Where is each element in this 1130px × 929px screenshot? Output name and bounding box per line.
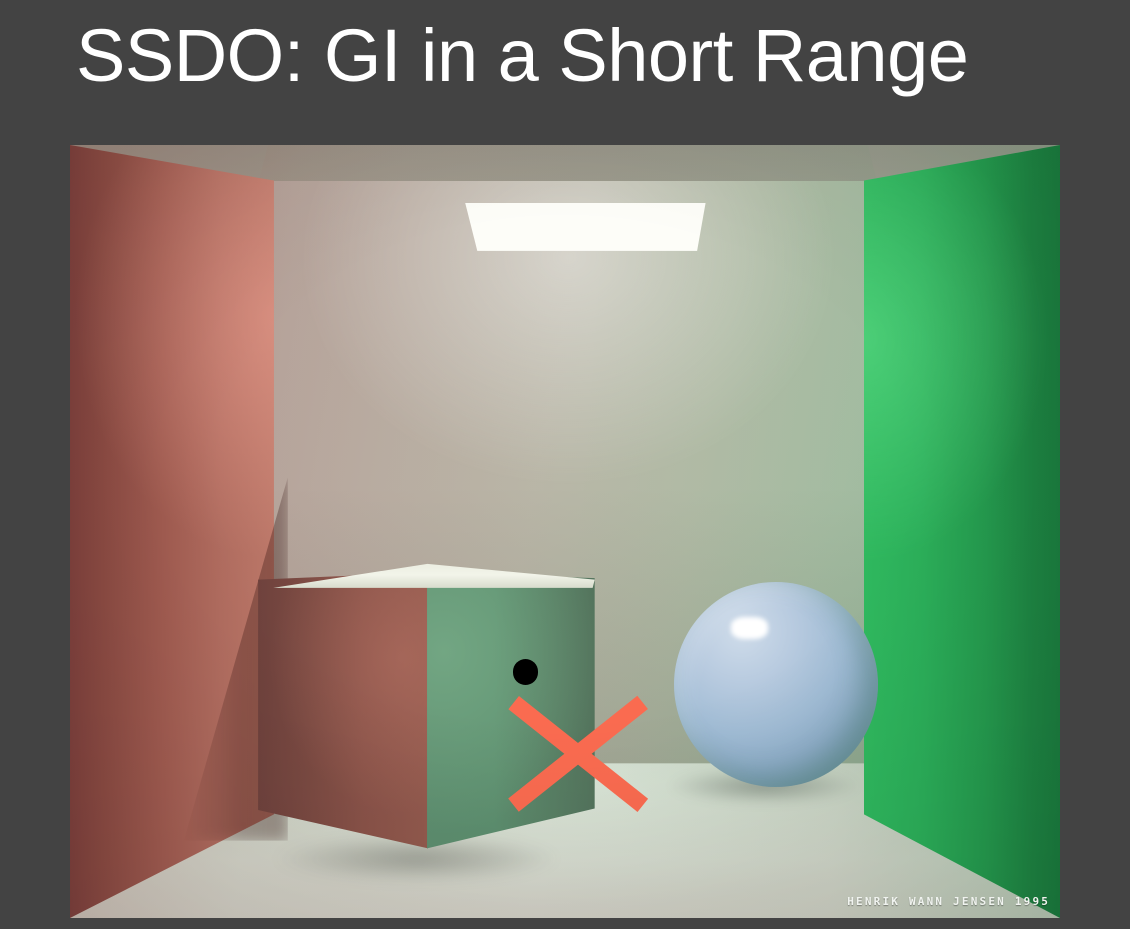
sample-point-dot-marker [513, 659, 539, 685]
cornell-box-figure: HENRIK WANN JENSEN 1995 [70, 145, 1060, 918]
render-watermark: HENRIK WANN JENSEN 1995 [847, 895, 1050, 908]
slide-root: SSDO: GI in a Short Range HE [0, 0, 1130, 929]
cube-left-face [258, 572, 428, 856]
red-x-annotation [516, 690, 641, 818]
sphere-specular-highlight [731, 617, 768, 640]
cube-top-face [258, 559, 595, 588]
ceiling-area-light [464, 203, 706, 251]
sphere-object [674, 582, 878, 788]
page-title: SSDO: GI in a Short Range [76, 6, 1076, 106]
